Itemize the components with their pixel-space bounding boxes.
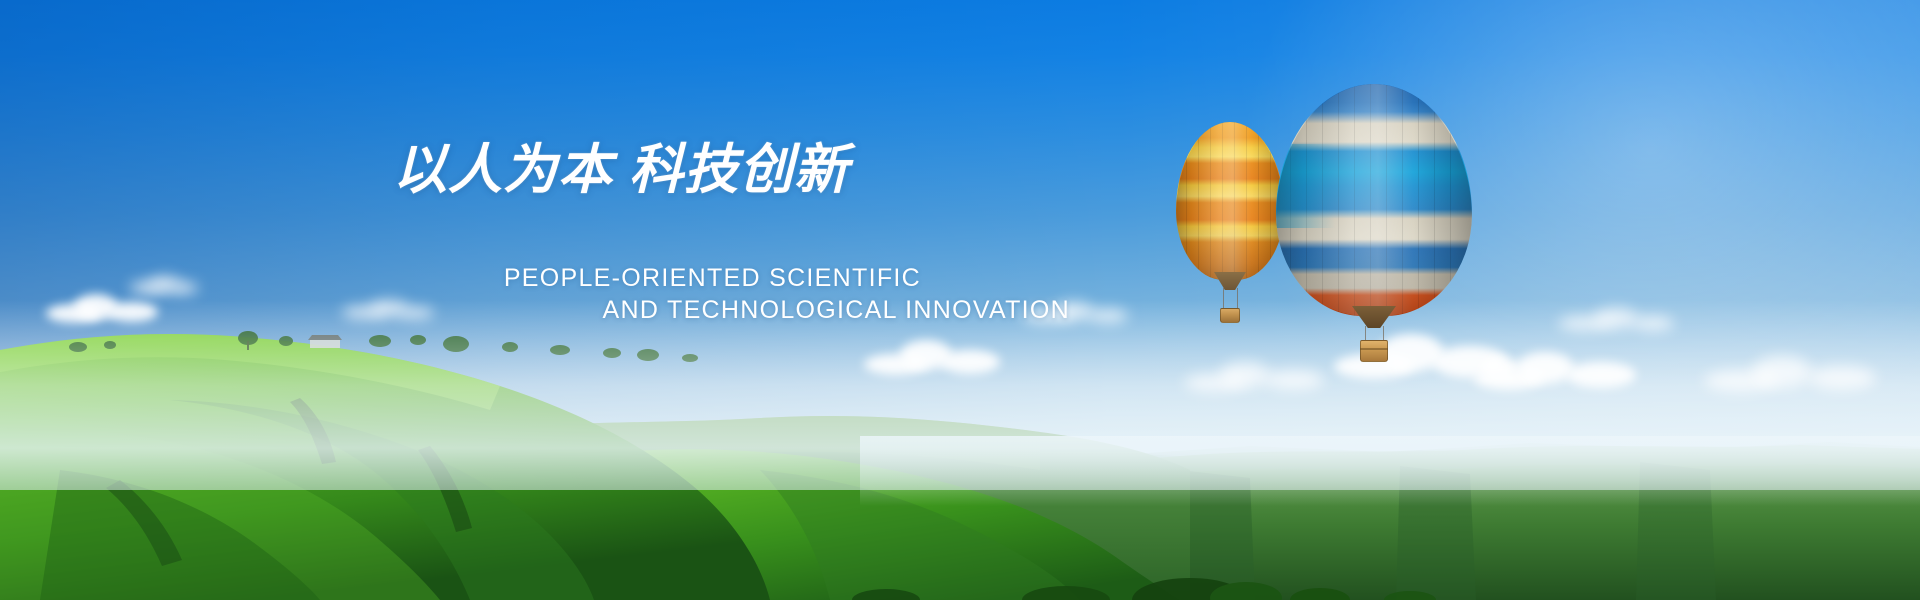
- blue-balloon-basket: [1360, 340, 1388, 362]
- subtitle-english: PEOPLE-ORIENTED SCIENTIFIC AND TECHNOLOG…: [0, 262, 1070, 326]
- blue-balloon: [1276, 84, 1472, 340]
- orange-balloon-basket: [1220, 308, 1240, 323]
- orange-balloon-riser-right: [1237, 288, 1238, 310]
- subtitle-line-1: PEOPLE-ORIENTED SCIENTIFIC: [0, 262, 1070, 294]
- orange-balloon-skirt: [1214, 272, 1246, 290]
- orange-balloon: [1176, 122, 1284, 312]
- orange-balloon-riser-left: [1223, 288, 1224, 310]
- blue-balloon-basket-band: [1360, 348, 1388, 350]
- subtitle-line-2: AND TECHNOLOGICAL INNOVATION: [0, 294, 1070, 326]
- blue-balloon-envelope: [1276, 84, 1472, 316]
- blue-balloon-skirt: [1352, 306, 1396, 328]
- hero-banner: 以人为本 科技创新 PEOPLE-ORIENTED SCIENTIFIC AND…: [0, 0, 1920, 600]
- headline-chinese: 以人为本 科技创新: [393, 139, 849, 201]
- orange-balloon-envelope: [1176, 122, 1284, 280]
